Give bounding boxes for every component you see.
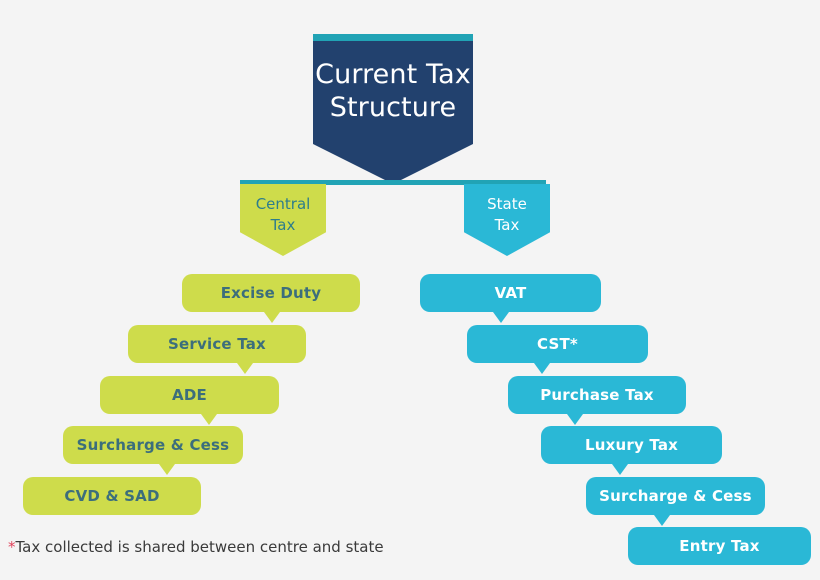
state-tax-node-4-arrow-icon: [612, 464, 628, 475]
branch-state-label: State Tax: [464, 194, 550, 236]
state-tax-node-3[interactable]: Purchase Tax: [508, 376, 686, 414]
state-tax-node-5-arrow-icon: [654, 515, 670, 526]
central-tax-node-1[interactable]: Excise Duty: [182, 274, 360, 312]
central-tax-node-2-label: Service Tax: [168, 335, 266, 353]
central-tax-node-2[interactable]: Service Tax: [128, 325, 306, 363]
footnote-text: Tax collected is shared between centre a…: [16, 538, 384, 556]
state-tax-node-2-label: CST*: [537, 335, 578, 353]
root-node-label: Current Tax Structure: [313, 58, 473, 124]
branch-central-label: Central Tax: [240, 194, 326, 236]
central-tax-node-4-arrow-icon: [159, 464, 175, 475]
central-tax-node-4-label: Surcharge & Cess: [77, 436, 230, 454]
central-tax-node-1-label: Excise Duty: [221, 284, 322, 302]
state-tax-node-1-label: VAT: [495, 284, 527, 302]
central-tax-node-3[interactable]: ADE: [100, 376, 279, 414]
state-tax-node-2[interactable]: CST*: [467, 325, 648, 363]
state-tax-node-6-label: Entry Tax: [679, 537, 759, 555]
central-tax-node-4[interactable]: Surcharge & Cess: [63, 426, 243, 464]
central-tax-node-3-label: ADE: [172, 386, 207, 404]
state-tax-node-3-arrow-icon: [567, 414, 583, 425]
footnote: *Tax collected is shared between centre …: [8, 538, 384, 556]
footnote-asterisk: *: [8, 538, 16, 556]
central-tax-node-5-label: CVD & SAD: [64, 487, 159, 505]
state-tax-node-6[interactable]: Entry Tax: [628, 527, 811, 565]
state-tax-node-3-label: Purchase Tax: [540, 386, 654, 404]
state-tax-node-4[interactable]: Luxury Tax: [541, 426, 722, 464]
state-tax-node-1-arrow-icon: [493, 312, 509, 323]
diagram-canvas: Current Tax Structure Central Tax State …: [0, 0, 820, 580]
state-tax-node-5-label: Surcharge & Cess: [599, 487, 752, 505]
state-tax-node-2-arrow-icon: [534, 363, 550, 374]
state-tax-node-1[interactable]: VAT: [420, 274, 601, 312]
state-tax-node-5[interactable]: Surcharge & Cess: [586, 477, 765, 515]
central-tax-node-3-arrow-icon: [201, 414, 217, 425]
branch-node-central-tax: Central Tax: [240, 184, 326, 256]
root-node-current-tax-structure: Current Tax Structure: [313, 34, 473, 184]
central-tax-node-5[interactable]: CVD & SAD: [23, 477, 201, 515]
branch-node-state-tax: State Tax: [464, 184, 550, 256]
state-tax-node-4-label: Luxury Tax: [585, 436, 678, 454]
central-tax-node-1-arrow-icon: [264, 312, 280, 323]
root-banner-stripe: [313, 34, 473, 41]
central-tax-node-2-arrow-icon: [237, 363, 253, 374]
